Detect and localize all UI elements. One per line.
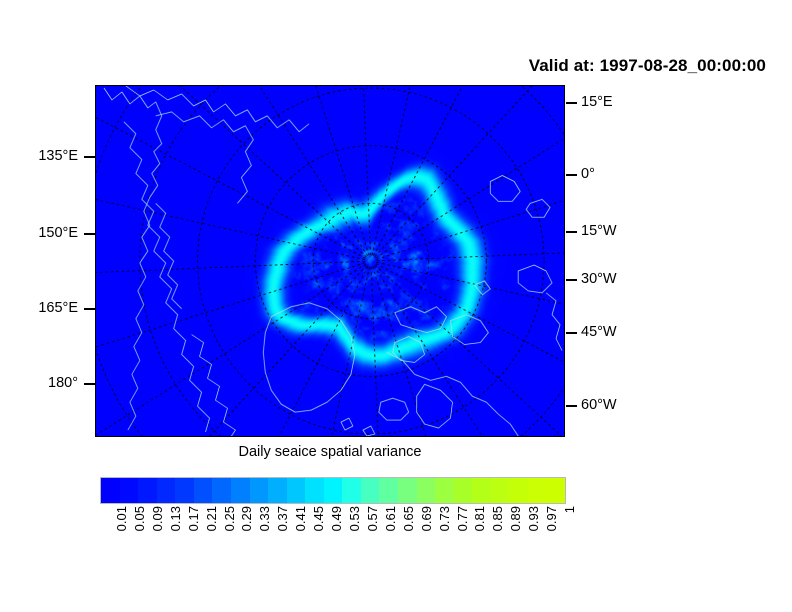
page-title: Valid at: 1997-08-28_00:00:00 — [0, 56, 766, 76]
colorbar-swatch — [157, 478, 176, 503]
colorbar-swatch — [120, 478, 139, 503]
colorbar-tick-label: 0.65 — [401, 506, 416, 531]
colorbar-tick-label: 1 — [562, 506, 577, 513]
colorbar-tick-label: 0.13 — [168, 506, 183, 531]
colorbar-tick-label: 0.53 — [347, 506, 362, 531]
right-axis-tick — [566, 279, 577, 281]
right-axis-tick — [566, 231, 577, 233]
colorbar-tick-label: 0.25 — [222, 506, 237, 531]
colorbar-gradient — [100, 477, 566, 504]
left-axis-tick — [84, 383, 95, 385]
colorbar-swatch — [101, 478, 120, 503]
right-axis-label: 45°W — [581, 324, 617, 340]
colorbar-tick-label: 0.41 — [293, 506, 308, 531]
colorbar-caption: Daily seaice spatial variance — [95, 444, 565, 460]
colorbar-tick-label: 0.73 — [437, 506, 452, 531]
colorbar-tick-label: 0.81 — [472, 506, 487, 531]
colorbar-tick-label: 0.97 — [544, 506, 559, 531]
colorbar-swatch — [194, 478, 213, 503]
right-axis-tick — [566, 332, 577, 334]
colorbar-swatch — [175, 478, 194, 503]
colorbar-swatch — [231, 478, 250, 503]
left-axis-tick — [84, 156, 95, 158]
colorbar-swatch — [305, 478, 324, 503]
colorbar-tick-label: 0.05 — [132, 506, 147, 531]
colorbar-tick-label: 0.17 — [186, 506, 201, 531]
colorbar-tick-label: 0.01 — [114, 506, 129, 531]
colorbar-tick-label: 0.45 — [311, 506, 326, 531]
colorbar-swatch — [454, 478, 473, 503]
right-axis-label: 30°W — [581, 271, 617, 287]
left-axis-label: 180° — [48, 375, 78, 391]
left-axis-tick — [84, 233, 95, 235]
colorbar-tick-label: 0.69 — [419, 506, 434, 531]
colorbar-swatch — [547, 478, 566, 503]
right-axis-tick — [566, 405, 577, 407]
colorbar-swatch — [472, 478, 491, 503]
map-plot-area — [95, 85, 565, 437]
colorbar-tick-label: 0.57 — [365, 506, 380, 531]
right-axis-tick — [566, 102, 577, 104]
colorbar-swatch — [491, 478, 510, 503]
colorbar-swatch — [324, 478, 343, 503]
colorbar-swatch — [528, 478, 547, 503]
colorbar-tick-label: 0.89 — [508, 506, 523, 531]
colorbar-swatch — [138, 478, 157, 503]
colorbar-swatch — [342, 478, 361, 503]
right-axis-label: 15°W — [581, 223, 617, 239]
left-axis-tick — [84, 308, 95, 310]
colorbar-tick-label: 0.29 — [239, 506, 254, 531]
colorbar-tick-label: 0.33 — [257, 506, 272, 531]
seaice-variance-heatmap — [96, 86, 564, 436]
right-axis-label: 15°E — [581, 94, 613, 110]
colorbar-swatch — [268, 478, 287, 503]
colorbar-swatch — [287, 478, 306, 503]
left-axis-label: 135°E — [38, 148, 78, 164]
right-axis-label: 0° — [581, 166, 595, 182]
colorbar-tick-label: 0.61 — [383, 506, 398, 531]
right-axis-label: 60°W — [581, 397, 617, 413]
colorbar-swatch — [509, 478, 528, 503]
colorbar-tick-label: 0.37 — [275, 506, 290, 531]
colorbar-tick-labels: 0.010.050.090.130.170.210.250.290.330.37… — [100, 506, 566, 576]
colorbar — [100, 477, 566, 504]
left-axis-label: 150°E — [38, 225, 78, 241]
colorbar-swatch — [398, 478, 417, 503]
colorbar-tick-label: 0.85 — [490, 506, 505, 531]
colorbar-swatch — [417, 478, 436, 503]
colorbar-swatch — [250, 478, 269, 503]
colorbar-tick-label: 0.49 — [329, 506, 344, 531]
colorbar-tick-label: 0.21 — [204, 506, 219, 531]
left-axis-label: 165°E — [38, 300, 78, 316]
colorbar-tick-label: 0.09 — [150, 506, 165, 531]
right-axis-tick — [566, 174, 577, 176]
colorbar-swatch — [361, 478, 380, 503]
colorbar-tick-label: 0.93 — [526, 506, 541, 531]
colorbar-tick-label: 0.77 — [455, 506, 470, 531]
colorbar-swatch — [435, 478, 454, 503]
colorbar-swatch — [379, 478, 398, 503]
colorbar-swatch — [212, 478, 231, 503]
